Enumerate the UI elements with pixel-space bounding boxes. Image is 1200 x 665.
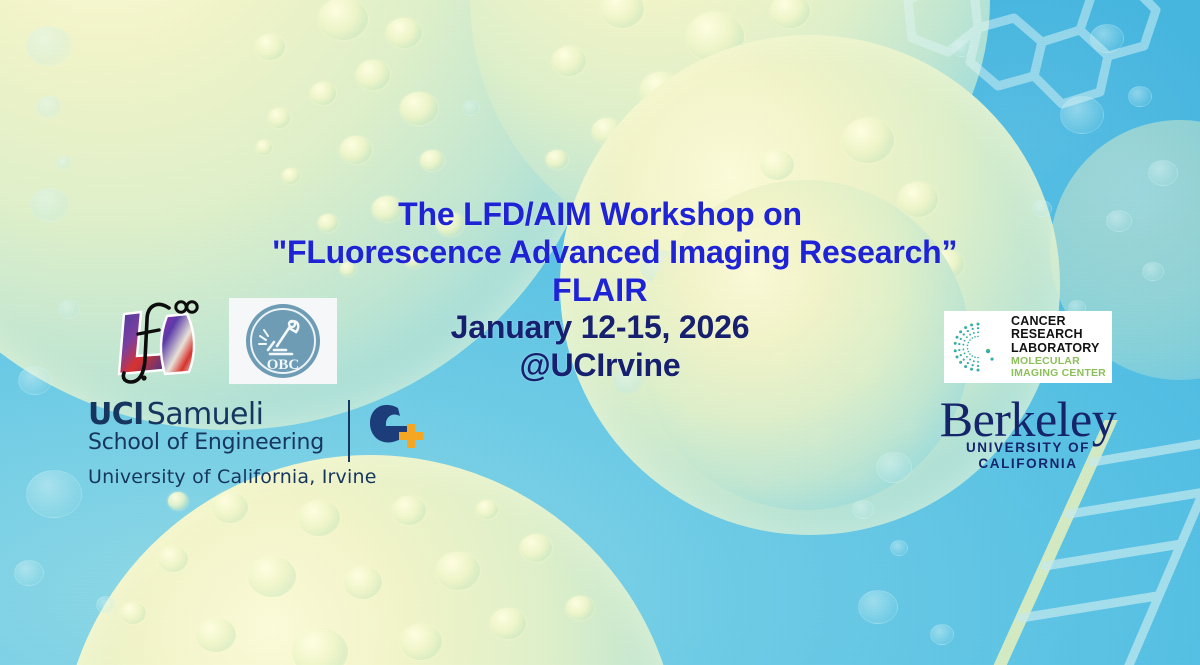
event-dates: January 12-15, 2026 [272,309,928,347]
crl-line-5: IMAGING CENTER [1011,367,1106,379]
uci-samueli-logo: UCI Samueli School of Engineering Univer… [88,396,428,496]
cancer-research-laboratory-logo: CANCER RESEARCH LABORATORY MOLECULAR IMA… [944,311,1112,383]
uci-university-line: University of California, Irvine [88,464,428,490]
eplus-icon [362,396,428,458]
crl-line-2: RESEARCH [1011,328,1106,341]
event-banner: The LFD/AIM Workshop on "FLuorescence Ad… [0,0,1200,665]
berkeley-logo: Berkeley UNIVERSITY OF CALIFORNIA [922,394,1134,460]
dotted-c-icon [950,319,1006,375]
berkeley-wordmark: Berkeley [922,394,1134,444]
crl-line-3: LABORATORY [1011,342,1106,355]
title-block: The LFD/AIM Workshop on "FLuorescence Ad… [272,196,928,385]
hexagon-molecule-icon [878,0,1178,130]
obc-logo: OBC [229,298,337,384]
svg-text:OBC: OBC [267,357,300,373]
event-location: @UCIrvine [272,347,928,385]
title-line-2: "FLuorescence Advanced Imaging Research” [272,234,928,272]
uci-brand-bold: UCI [88,400,144,430]
lfd-logo [97,298,205,390]
uci-divider [348,400,350,462]
title-line-1: The LFD/AIM Workshop on [272,196,928,234]
crl-line-4: MOLECULAR [1011,355,1106,367]
uci-brand-light: Samueli [147,400,264,430]
title-acronym: FLAIR [272,272,928,310]
uci-school-line: School of Engineering [88,430,338,456]
